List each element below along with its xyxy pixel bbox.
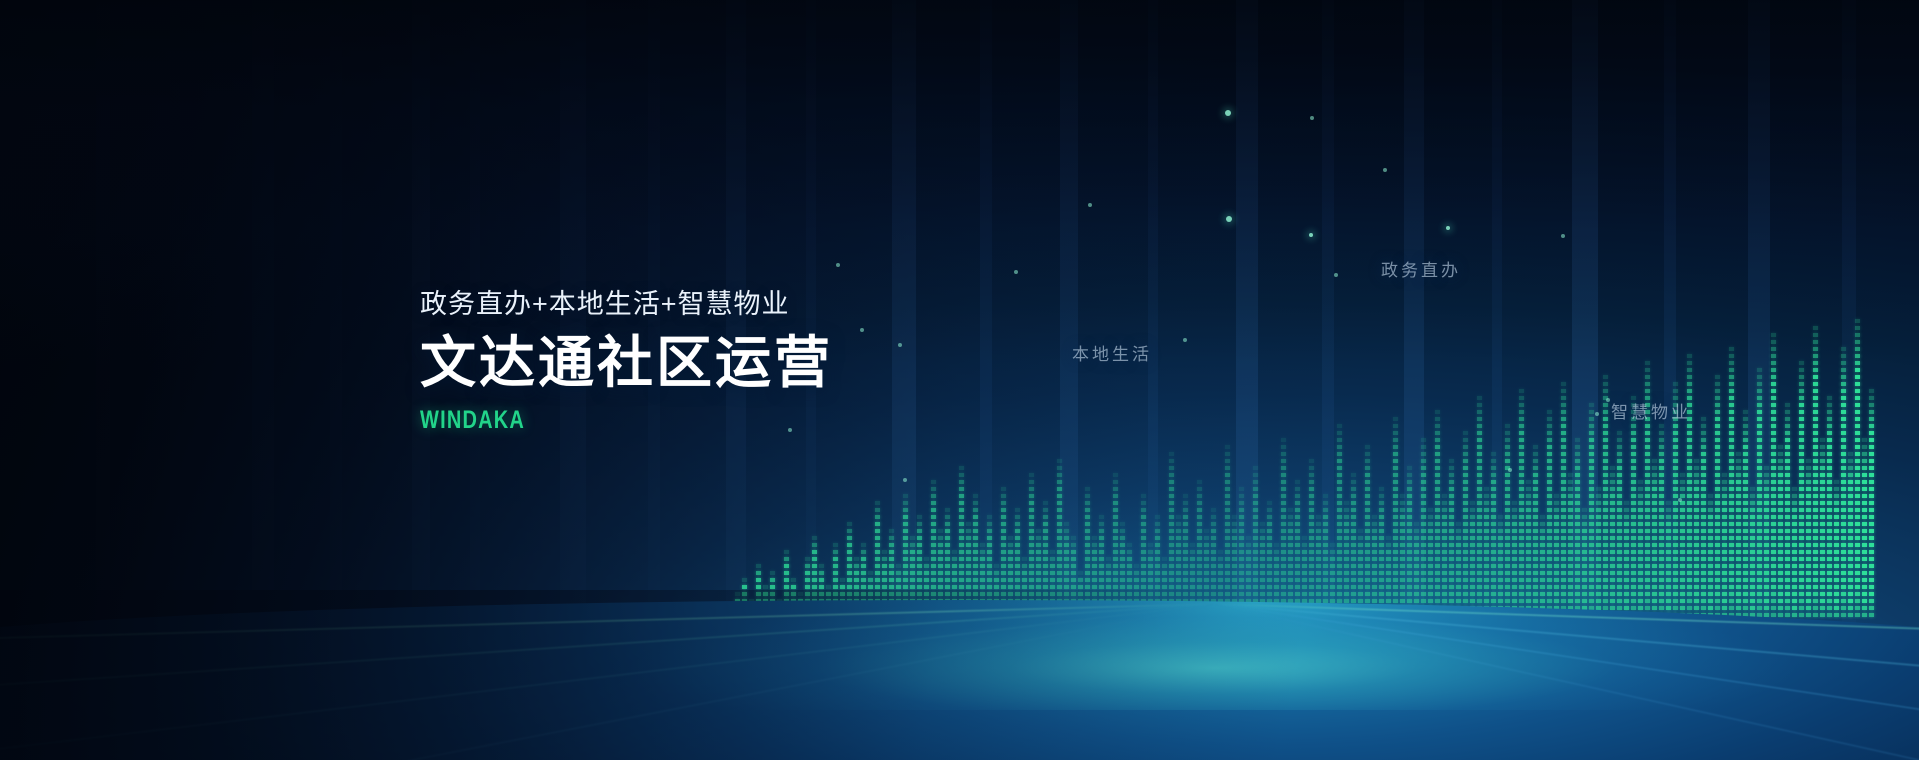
sparkle-particle-12 <box>898 343 902 347</box>
floating-label-government-direct: 政务直办 <box>1381 256 1461 281</box>
hero-headline: 文达通社区运营 <box>420 331 833 396</box>
sparkle-particle-15 <box>1088 203 1092 207</box>
perspective-floor <box>0 600 1919 760</box>
sparkle-particle-2 <box>1226 216 1232 222</box>
brand-wordmark: WINDAKA <box>420 406 750 435</box>
sparkle-particle-8 <box>1561 234 1565 238</box>
floating-label-smart-property: 智慧物业 <box>1611 398 1691 423</box>
sparkle-particle-0 <box>1225 110 1231 116</box>
hero-text-block: 政务直办+本地生活+智慧物业 文达通社区运营 WINDAKA <box>420 288 833 435</box>
hero-banner: 政务直办本地生活智慧物业 政务直办+本地生活+智慧物业 文达通社区运营 WIND… <box>0 0 1919 760</box>
sparkle-particle-11 <box>860 328 864 332</box>
sparkle-particle-16 <box>1678 498 1682 502</box>
sparkle-particle-7 <box>1183 338 1187 342</box>
floating-label-local-life: 本地生活 <box>1072 340 1152 365</box>
hero-subtitle: 政务直办+本地生活+智慧物业 <box>420 288 833 322</box>
sparkle-particle-10 <box>1606 398 1610 402</box>
sparkle-particle-19 <box>903 478 907 482</box>
sparkle-particle-9 <box>1595 412 1599 416</box>
sparkle-particle-5 <box>1383 168 1387 172</box>
sparkle-particle-3 <box>1309 233 1313 237</box>
sparkle-particle-4 <box>1334 273 1338 277</box>
sparkle-particle-14 <box>1014 270 1018 274</box>
sparkle-particle-6 <box>1446 226 1450 230</box>
sparkle-particle-17 <box>1508 468 1512 472</box>
sparkle-particle-1 <box>1310 116 1314 120</box>
sparkle-particle-13 <box>836 263 840 267</box>
